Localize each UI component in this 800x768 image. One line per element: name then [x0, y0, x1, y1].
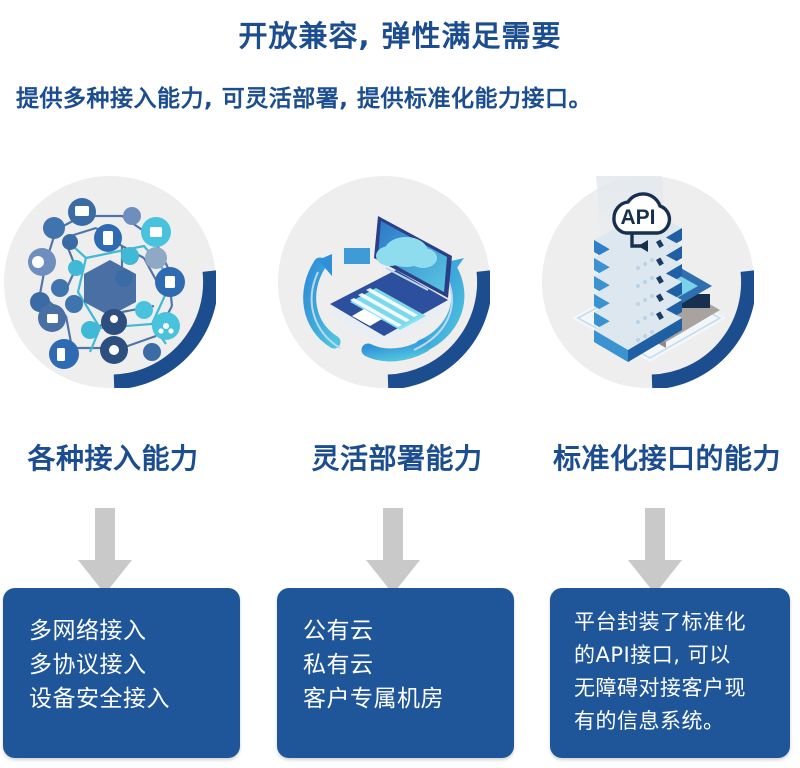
- feature-column-2: 灵活部署能力 公有云 私有云 客户专属机房: [268, 168, 532, 768]
- icon-badge-2: [268, 168, 520, 416]
- callout-box-1: 多网络接入 多协议接入 设备安全接入: [3, 588, 240, 758]
- down-arrow-2: [364, 508, 422, 596]
- down-arrow-3: [626, 508, 684, 596]
- page-subtitle: 提供多种接入能力, 可灵活部署, 提供标准化能力接口。: [16, 83, 786, 115]
- callout-line: 私有云: [303, 648, 514, 682]
- feature-column-1: 各种接入能力 多网络接入 多协议接入 设备安全接入: [0, 168, 258, 768]
- column-title-3: 标准化接口的能力: [538, 440, 796, 478]
- network-nodes-icon: [4, 176, 216, 388]
- callout-line: 无障碍对接客户现: [574, 672, 790, 705]
- icon-badge-3: API: [532, 168, 784, 416]
- callout-line: 客户专属机房: [303, 682, 514, 716]
- feature-columns: 各种接入能力 多网络接入 多协议接入 设备安全接入: [0, 168, 800, 768]
- callout-line: 多协议接入: [29, 648, 240, 682]
- callout-line: 公有云: [303, 614, 514, 648]
- hexagon-core: [84, 260, 136, 316]
- api-server-stack-icon: API: [542, 176, 754, 388]
- callout-line: 设备安全接入: [29, 682, 240, 716]
- callout-box-2: 公有云 私有云 客户专属机房: [277, 588, 514, 758]
- callout-line: 多网络接入: [29, 614, 240, 648]
- page-title: 开放兼容, 弹性满足需要: [0, 16, 800, 56]
- icon-badge-1: [0, 168, 246, 416]
- infographic-page: { "header": { "title": "开放兼容, 弹性满足需要", "…: [0, 0, 800, 768]
- column-title-2: 灵活部署能力: [268, 440, 526, 478]
- column-title-1: 各种接入能力: [0, 440, 242, 478]
- feature-column-3: API 标准化接口的能力 平台封装了标准化 的API接口, 可以 无障碍对接客户…: [532, 168, 796, 768]
- laptop-cloud-sync-icon: [278, 176, 490, 388]
- callout-box-3: 平台封装了标准化 的API接口, 可以 无障碍对接客户现 有的信息系统。: [550, 588, 790, 758]
- api-badge-label: API: [620, 206, 655, 229]
- callout-line: 平台封装了标准化: [574, 606, 790, 639]
- down-arrow-1: [76, 508, 134, 596]
- callout-line: 的API接口, 可以: [574, 639, 790, 672]
- callout-line: 有的信息系统。: [574, 705, 790, 738]
